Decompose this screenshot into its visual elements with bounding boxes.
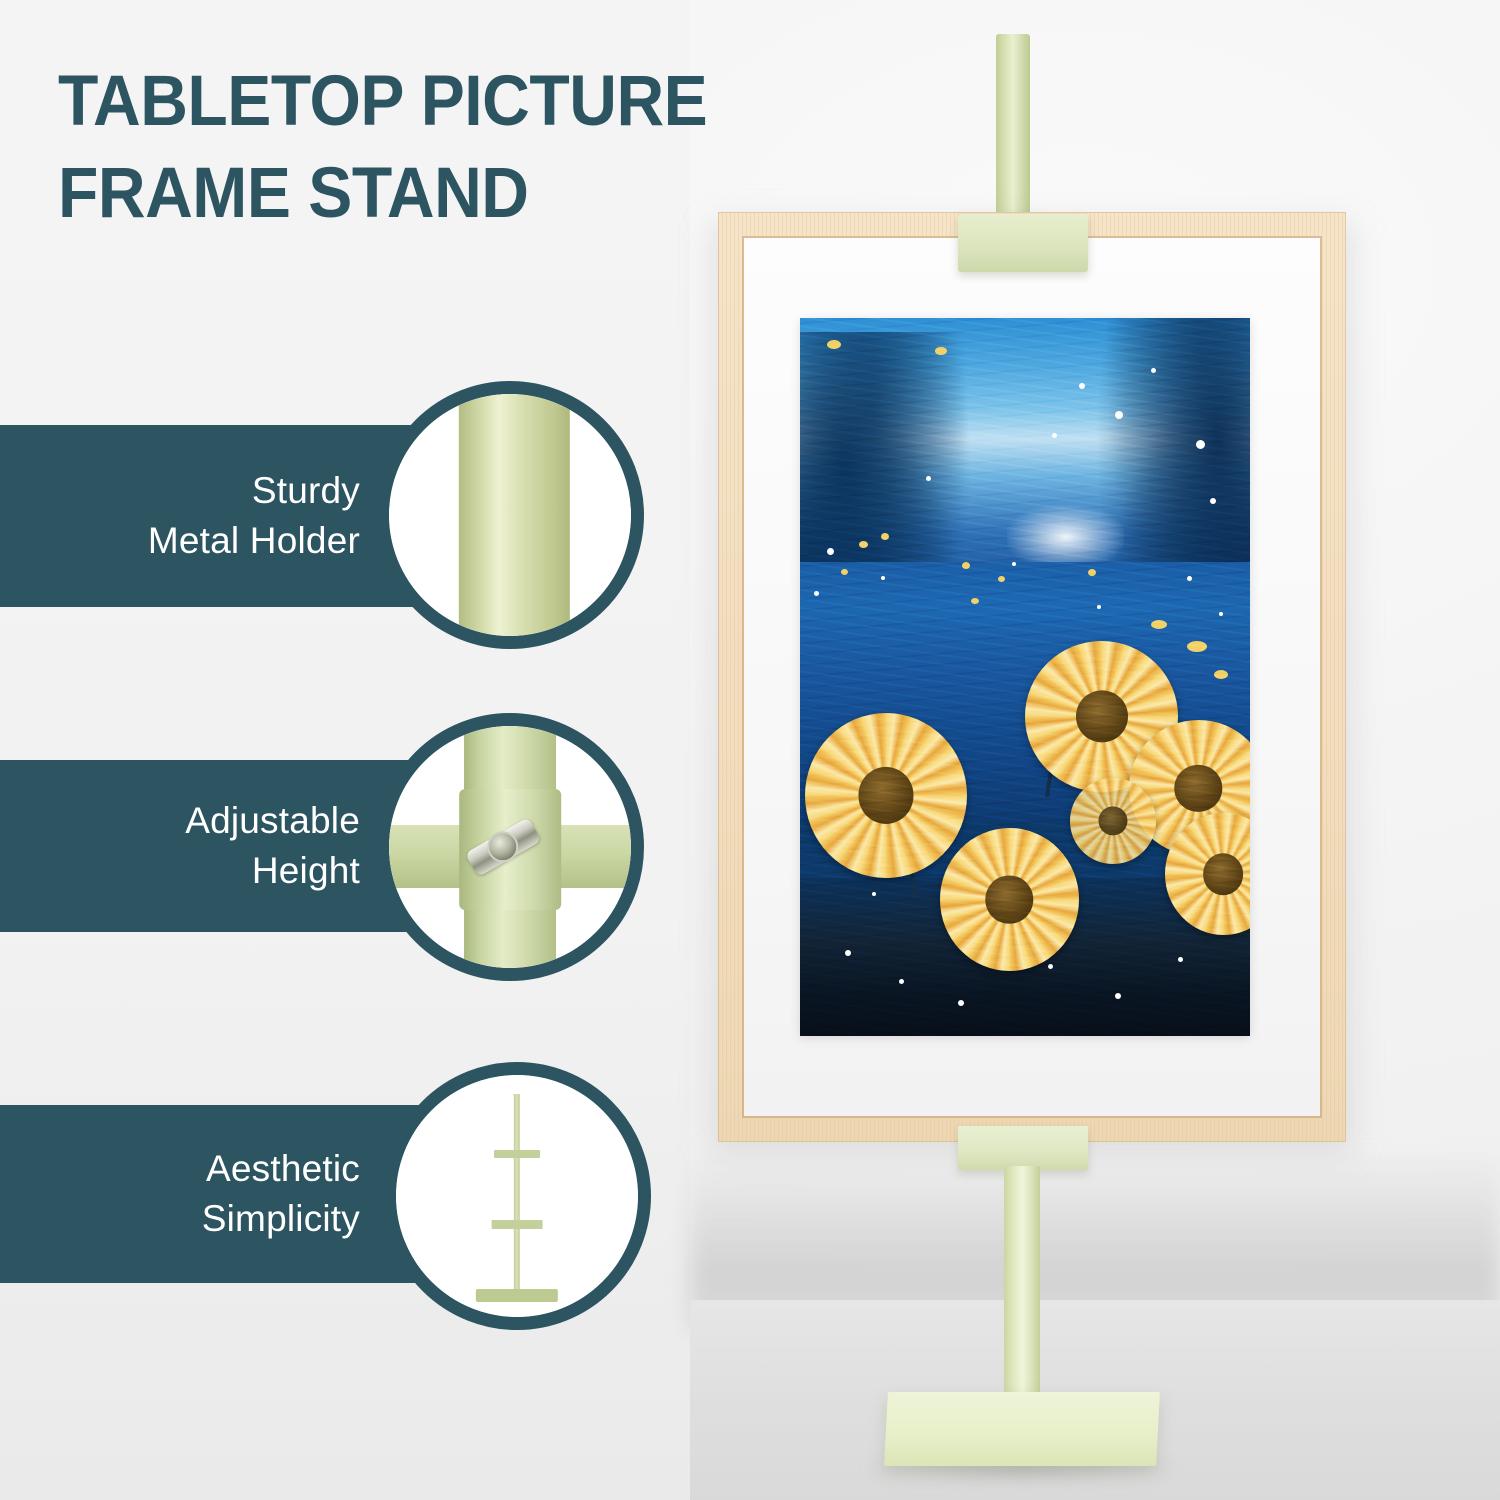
product-infographic: TABLETOP PICTURE FRAME STAND Sturdy Meta… <box>0 0 1500 1500</box>
stand-lower-pole <box>1004 1166 1040 1404</box>
full-stand-icon <box>396 1075 638 1317</box>
feature-circle-3 <box>383 1062 651 1330</box>
feature-circle-2 <box>376 713 644 981</box>
metal-tube-closeup-icon <box>389 394 631 636</box>
stand-top-clamp <box>958 214 1088 272</box>
artwork-sunflowers-seascape <box>800 318 1250 1036</box>
feature-circle-1 <box>376 381 644 649</box>
adjustable-joint-icon <box>389 726 631 968</box>
feature-banner-3: Aesthetic Simplicity <box>0 1105 420 1283</box>
stand-bottom-clamp <box>958 1126 1088 1170</box>
feature-banner-2: Adjustable Height <box>0 760 420 932</box>
stand-upper-pole <box>996 34 1030 234</box>
stand-base <box>884 1392 1160 1466</box>
feature-banner-1: Sturdy Metal Holder <box>0 425 420 607</box>
